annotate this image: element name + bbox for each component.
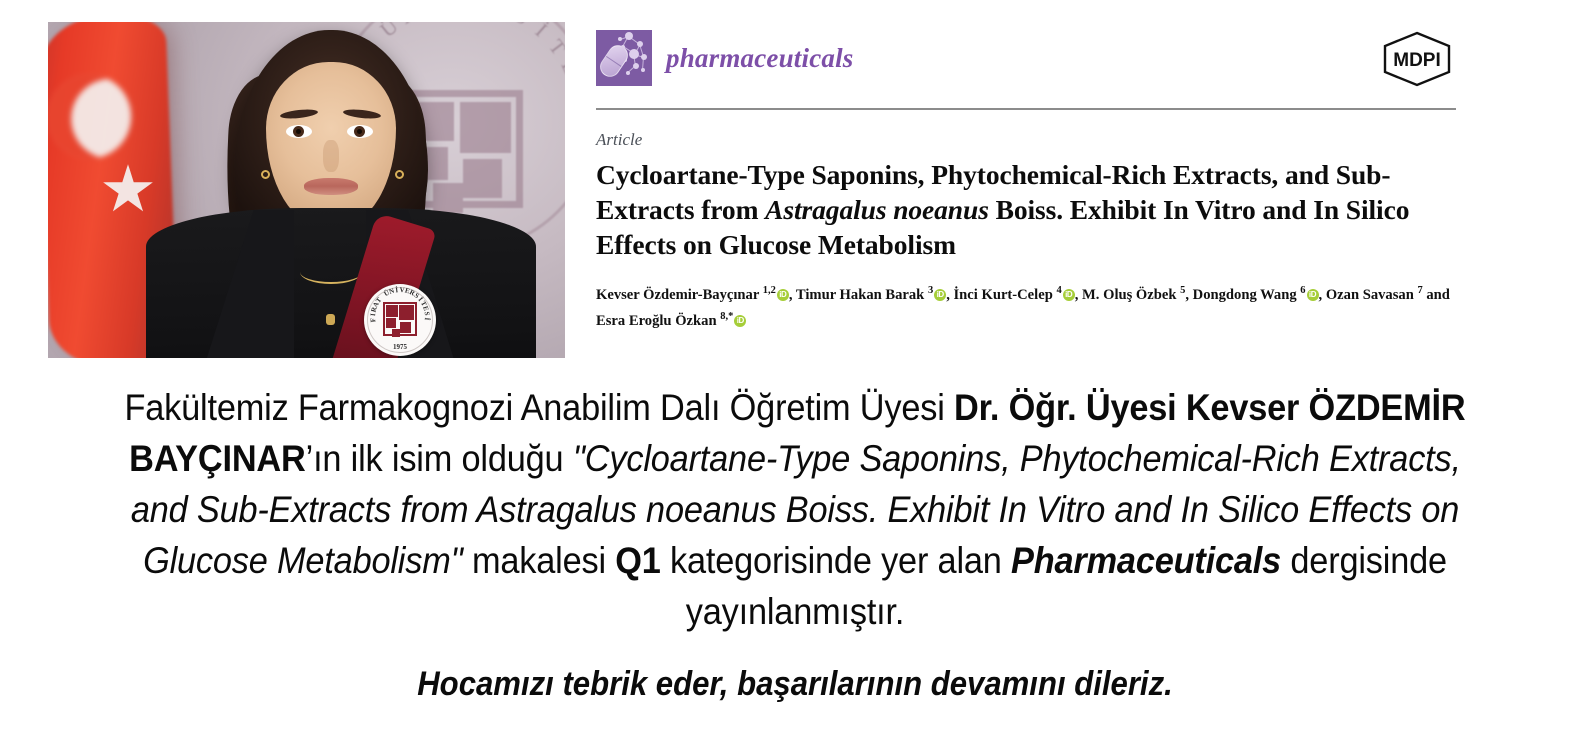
molecule-atom <box>633 63 640 70</box>
mark-cell <box>392 329 401 338</box>
robe-university-emblem-icon: FIRAT ÜNİVERSİTESİ 1975 <box>364 284 436 356</box>
author-separator: , <box>1075 287 1082 303</box>
journal-brand: pharmaceuticals <box>596 30 854 86</box>
author-separator: , <box>789 287 796 303</box>
author-affiliation-marker: 4 <box>1056 286 1061 297</box>
lips <box>304 178 358 195</box>
mark-cell <box>400 322 411 333</box>
paper-title-species: Astragalus noeanus <box>765 194 989 225</box>
nose <box>323 140 339 172</box>
journal-header: pharmaceuticals MDPI Article Cycloartane… <box>596 30 1456 334</box>
journal-header-top-row: pharmaceuticals MDPI <box>596 30 1456 92</box>
necklace-pendant <box>326 314 335 325</box>
arc-char: S <box>423 311 431 316</box>
arc-char: I <box>369 313 377 317</box>
author-separator: , <box>1319 287 1326 303</box>
author-separator: , <box>1185 287 1192 303</box>
author-entry: Esra Eroğlu Özkan 8,*iD <box>596 313 746 329</box>
announcement-segment: kategorisinde yer alan <box>661 539 1011 581</box>
mark-cell <box>405 312 412 319</box>
orcid-icon[interactable]: iD <box>934 289 946 301</box>
mark-cell <box>386 305 397 316</box>
necklace <box>300 260 362 284</box>
announcement-paragraph: Fakültemiz Farmakognozi Anabilim Dalı Öğ… <box>122 382 1467 637</box>
author-affiliation-marker: 1,2 <box>763 286 776 297</box>
author-list: Kevser Özdemir-Bayçınar 1,2iD, Timur Hak… <box>596 283 1456 335</box>
author-affiliation-marker: 6 <box>1300 286 1305 297</box>
closing-line: Hocamızı tebrik eder, başarılarının deva… <box>122 662 1467 706</box>
announcement-segment: Fakültemiz Farmakognozi Anabilim Dalı Öğ… <box>125 386 955 428</box>
author-separator: , <box>946 287 953 303</box>
arc-char: İ <box>423 317 431 321</box>
announcement-page: T ÜNİVERSİTESİ <box>0 0 1585 747</box>
author-name: Kevser Özdemir-Bayçınar <box>596 287 763 303</box>
person-figure: FIRAT ÜNİVERSİTESİ 1975 <box>48 22 565 358</box>
arc-char: F <box>369 317 377 322</box>
author-name: Esra Eroğlu Özkan <box>596 313 720 329</box>
paper-title: Cycloartane-Type Saponins, Phytochemical… <box>596 157 1456 263</box>
author-affiliation-marker: 8,* <box>720 312 733 323</box>
orcid-icon[interactable]: iD <box>734 315 746 327</box>
author-name: Timur Hakan Barak <box>796 287 928 303</box>
pharmaceuticals-logo-icon <box>596 30 652 86</box>
header-divider <box>596 108 1456 110</box>
molecule-atom <box>641 68 645 72</box>
announcement-segment: ’ın ilk isim olduğu <box>306 437 573 479</box>
molecule-atom <box>618 37 622 41</box>
author-separator: and <box>1423 287 1450 303</box>
eye-right <box>347 125 373 138</box>
author-entry: Dongdong Wang 6iD, <box>1193 287 1326 303</box>
article-type-label: Article <box>596 130 1456 150</box>
journal-title: pharmaceuticals <box>666 43 854 74</box>
emblem-square-mark-icon <box>383 302 417 336</box>
eye-left <box>286 125 312 138</box>
orcid-icon[interactable]: iD <box>777 289 789 301</box>
announcement-segment: Pharmaceuticals <box>1011 539 1281 581</box>
earring-right <box>395 170 404 179</box>
orcid-icon[interactable]: iD <box>1063 289 1075 301</box>
molecule-atom <box>626 71 631 76</box>
author-entry: M. Oluş Özbek 5, <box>1082 287 1193 303</box>
svg-text:MDPI: MDPI <box>1393 50 1441 71</box>
announcement-segment: Q1 <box>615 539 660 581</box>
molecule-atom <box>637 41 643 47</box>
author-entry: Kevser Özdemir-Bayçınar 1,2iD, <box>596 287 796 303</box>
announcement-segment: makalesi <box>463 539 616 581</box>
molecule-atom <box>641 54 647 60</box>
author-name: Ozan Savasan <box>1326 287 1418 303</box>
portrait-photo: T ÜNİVERSİTESİ <box>48 22 565 358</box>
mark-cell <box>386 318 395 327</box>
author-entry: Timur Hakan Barak 3iD, <box>796 287 954 303</box>
author-name: M. Oluş Özbek <box>1082 287 1180 303</box>
mdpi-logo-icon: MDPI <box>1378 30 1456 88</box>
earring-left <box>261 170 270 179</box>
orcid-icon[interactable]: iD <box>1307 289 1319 301</box>
author-affiliation-marker: 3 <box>928 286 933 297</box>
author-name: Dongdong Wang <box>1193 287 1301 303</box>
author-entry: Ozan Savasan 7 and <box>1326 287 1450 303</box>
molecule-atom <box>629 49 639 59</box>
emblem-year: 1975 <box>364 343 436 351</box>
author-entry: İnci Kurt-Celep 4iD, <box>954 287 1083 303</box>
author-name: İnci Kurt-Celep <box>954 287 1057 303</box>
molecule-atom <box>625 32 633 40</box>
